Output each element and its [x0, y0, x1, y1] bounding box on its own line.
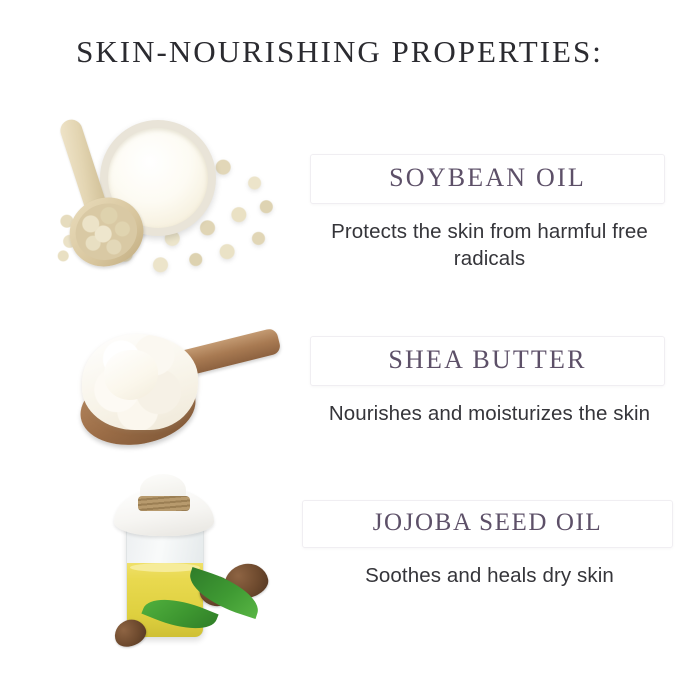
ingredient-name-jojoba-seed-oil: JOJOBA SEED OIL [302, 500, 673, 548]
shea-butter-scoop [82, 334, 198, 430]
jojoba-seed-oil-image [0, 462, 300, 662]
soybean-oil-image [0, 100, 300, 290]
soybean-oil-illustration [38, 108, 286, 286]
shea-butter-image [0, 312, 300, 472]
soybean-oil-copy: SOYBEAN OIL Protects the skin from harmf… [300, 100, 679, 290]
jojoba-seed-oil-copy: JOJOBA SEED OIL Soothes and heals dry sk… [300, 462, 679, 662]
ingredient-row-soybean-oil: SOYBEAN OIL Protects the skin from harmf… [0, 100, 679, 290]
ingredient-name-shea-butter: SHEA BUTTER [310, 336, 665, 386]
ingredient-row-shea-butter: SHEA BUTTER Nourishes and moisturizes th… [0, 312, 679, 472]
ingredient-row-jojoba-seed-oil: JOJOBA SEED OIL Soothes and heals dry sk… [0, 462, 679, 662]
shea-butter-copy: SHEA BUTTER Nourishes and moisturizes th… [300, 312, 679, 472]
ingredient-description-shea-butter: Nourishes and moisturizes the skin [300, 400, 679, 427]
page-title: SKIN-NOURISHING PROPERTIES: [0, 34, 679, 70]
ingredient-name-soybean-oil: SOYBEAN OIL [310, 154, 665, 204]
ingredient-description-jojoba-seed-oil: Soothes and heals dry skin [300, 562, 679, 589]
jojoba-oil-illustration [96, 470, 280, 654]
ingredient-description-soybean-oil: Protects the skin from harmful free radi… [300, 218, 679, 272]
shea-butter-illustration [70, 328, 280, 454]
spoon-bowl [61, 188, 152, 276]
twine-tie [138, 496, 190, 511]
